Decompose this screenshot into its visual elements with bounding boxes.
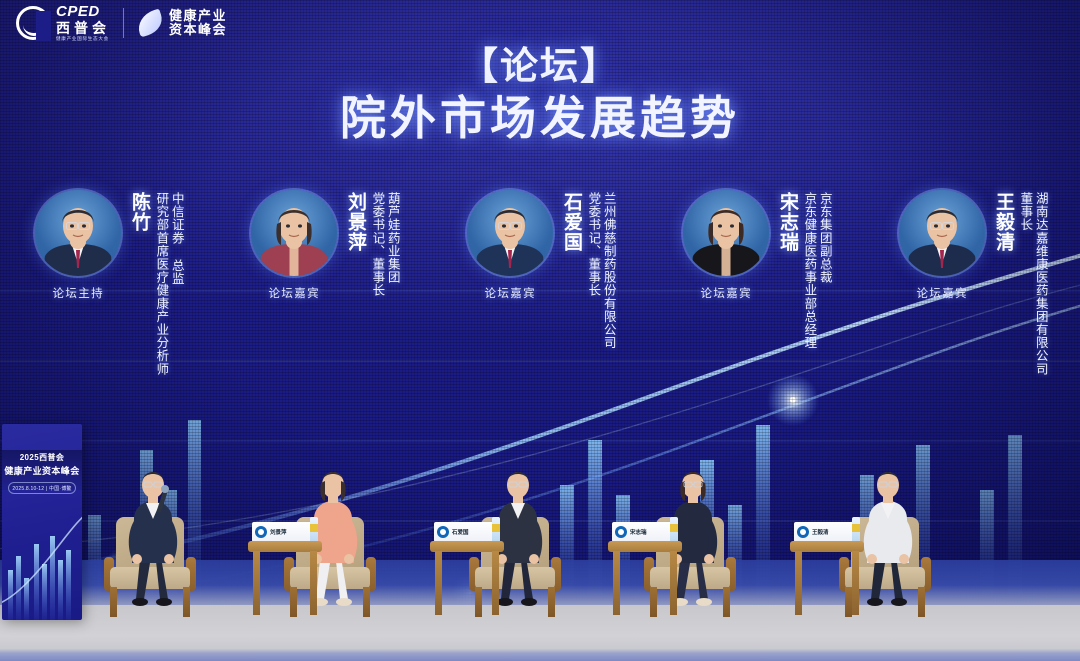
speaker-avatar (251, 190, 337, 276)
speaker-inner: 论坛嘉宾 王毅清 湖南达嘉维康医药集团有限公司董事长 (896, 190, 1048, 375)
speaker-portrait-column: 论坛嘉宾 (248, 190, 340, 301)
side-table-2: 石爱国 (430, 541, 504, 615)
panelist-person-1 (116, 467, 190, 617)
table-leg-left (795, 551, 802, 615)
side-table-3: 宋志瑞 (608, 541, 682, 615)
table-leg-right (492, 551, 499, 615)
speaker-title-columns: 京东集团副总裁京东健康医药事业部总经理 (802, 192, 832, 349)
speaker-card-4: 论坛嘉宾 宋志瑞 京东集团副总裁京东健康医药事业部总经理 (648, 176, 864, 426)
table-leg-left (435, 551, 442, 615)
speaker-role-label: 论坛主持 (52, 285, 104, 301)
table-leg-left (613, 551, 620, 615)
speaker-title-col-2: 董事长 (1018, 192, 1032, 375)
speaker-title-columns: 中信证券 总监研究部首席医疗健康产业分析师 (154, 192, 184, 375)
name-placard: 宋志瑞 (612, 522, 674, 542)
speaker-title-col-1: 湖南达嘉维康医药集团有限公司 (1033, 192, 1047, 375)
water-bottle (852, 517, 860, 542)
placard-name: 王毅清 (812, 528, 829, 536)
speaker-avatar (899, 190, 985, 276)
speaker-title-col-1: 京东集团副总裁 (817, 192, 831, 349)
speaker-card-1: 论坛主持 陈竹 中信证券 总监研究部首席医疗健康产业分析师 (0, 176, 216, 426)
cped-circle-logo-icon (16, 6, 50, 40)
speaker-title-col-2: 研究部首席医疗健康产业分析师 (154, 192, 168, 375)
placard-logo-icon (255, 526, 267, 538)
forum-title-line1: 【论坛】 (0, 46, 1080, 89)
header-logo-bar: CPED 西普会 健康产业国际生态大会 健康产业 资本峰会 (16, 4, 227, 42)
speaker-avatar (467, 190, 553, 276)
speaker-name: 王毅清 (993, 192, 1013, 252)
name-placard: 王毅清 (794, 522, 856, 542)
logo-summit-line1: 健康产业 (169, 9, 227, 23)
logo-cped-tagline: 健康产业国际生态大会 (56, 37, 110, 42)
panel-seating-area: 刘景萍 石爱国 宋志瑞 王毅清 (0, 410, 1080, 625)
placard-logo-icon (437, 526, 449, 538)
speaker-title-columns: 葫芦娃药业集团党委书记、董事长 (370, 192, 400, 297)
speaker-portrait-column: 论坛嘉宾 (680, 190, 772, 301)
table-leg-right (670, 551, 677, 615)
speaker-title-col-2: 党委书记、董事长 (586, 192, 600, 349)
logo-cped-en: CPED (56, 4, 110, 19)
speaker-card-5: 论坛嘉宾 王毅清 湖南达嘉维康医药集团有限公司董事长 (864, 176, 1080, 426)
speaker-avatar (35, 190, 121, 276)
water-bottle (492, 517, 500, 542)
speaker-portrait-column: 论坛嘉宾 (464, 190, 556, 301)
water-bottle (670, 517, 678, 542)
speaker-role-label: 论坛嘉宾 (700, 285, 752, 301)
logo-cped: CPED 西普会 健康产业国际生态大会 (16, 4, 110, 42)
speaker-inner: 论坛嘉宾 宋志瑞 京东集团副总裁京东健康医药事业部总经理 (680, 190, 832, 349)
speaker-role-label: 论坛嘉宾 (916, 285, 968, 301)
speaker-name: 刘景萍 (345, 192, 365, 252)
speaker-title-columns: 兰州佛慈制药股份有限公司党委书记、董事长 (586, 192, 616, 349)
speaker-name: 宋志瑞 (777, 192, 797, 252)
speaker-inner: 论坛嘉宾 刘景萍 葫芦娃药业集团党委书记、董事长 (248, 190, 400, 301)
speaker-role-label: 论坛嘉宾 (484, 285, 536, 301)
speaker-portrait-column: 论坛嘉宾 (896, 190, 988, 301)
speaker-card-2: 论坛嘉宾 刘景萍 葫芦娃药业集团党委书记、董事长 (216, 176, 432, 426)
speaker-title-columns: 湖南达嘉维康医药集团有限公司董事长 (1018, 192, 1048, 375)
name-placard: 刘景萍 (252, 522, 314, 542)
speaker-avatar (683, 190, 769, 276)
side-table-1: 刘景萍 (248, 541, 322, 615)
name-placard: 石爱国 (434, 522, 496, 542)
speaker-card-3: 论坛嘉宾 石爱国 兰州佛慈制药股份有限公司党委书记、董事长 (432, 176, 648, 426)
water-bottle (310, 517, 318, 542)
forum-title-block: 【论坛】 院外市场发展趋势 (0, 46, 1080, 145)
speaker-title-col-2: 党委书记、董事长 (370, 192, 384, 297)
placard-logo-icon (797, 526, 809, 538)
logo-cped-text: CPED 西普会 健康产业国际生态大会 (56, 4, 110, 42)
logo-summit-text: 健康产业 资本峰会 (169, 9, 227, 37)
table-leg-right (310, 551, 317, 615)
leaf-logo-icon (134, 8, 166, 37)
speaker-title-col-1: 中信证券 总监 (169, 192, 183, 375)
table-leg-right (852, 551, 859, 615)
speaker-portrait-column: 论坛主持 (32, 190, 124, 301)
speaker-title-col-1: 葫芦娃药业集团 (385, 192, 399, 297)
placard-name: 石爱国 (452, 528, 469, 536)
placard-name: 宋志瑞 (630, 528, 647, 536)
speaker-title-col-1: 兰州佛慈制药股份有限公司 (601, 192, 615, 349)
logo-divider (123, 8, 124, 38)
speaker-lineup: 论坛主持 陈竹 中信证券 总监研究部首席医疗健康产业分析师 论坛嘉宾 刘景 (0, 176, 1080, 426)
speaker-inner: 论坛嘉宾 石爱国 兰州佛慈制药股份有限公司党委书记、董事长 (464, 190, 616, 349)
logo-summit-line2: 资本峰会 (169, 23, 227, 37)
forum-title-line2: 院外市场发展趋势 (0, 91, 1080, 145)
speaker-name: 石爱国 (561, 192, 581, 252)
speaker-inner: 论坛主持 陈竹 中信证券 总监研究部首席医疗健康产业分析师 (32, 190, 184, 375)
speaker-title-col-2: 京东健康医药事业部总经理 (802, 192, 816, 349)
side-table-4: 王毅清 (790, 541, 864, 615)
speaker-name: 陈竹 (129, 192, 149, 232)
conference-stage-photo: CPED 西普会 健康产业国际生态大会 健康产业 资本峰会 【论坛】 院外市场发… (0, 0, 1080, 661)
logo-summit: 健康产业 资本峰会 (137, 9, 227, 37)
placard-name: 刘景萍 (270, 528, 287, 536)
speaker-role-label: 论坛嘉宾 (268, 285, 320, 301)
placard-logo-icon (615, 526, 627, 538)
logo-cped-cn: 西普会 (56, 21, 110, 35)
table-leg-left (253, 551, 260, 615)
